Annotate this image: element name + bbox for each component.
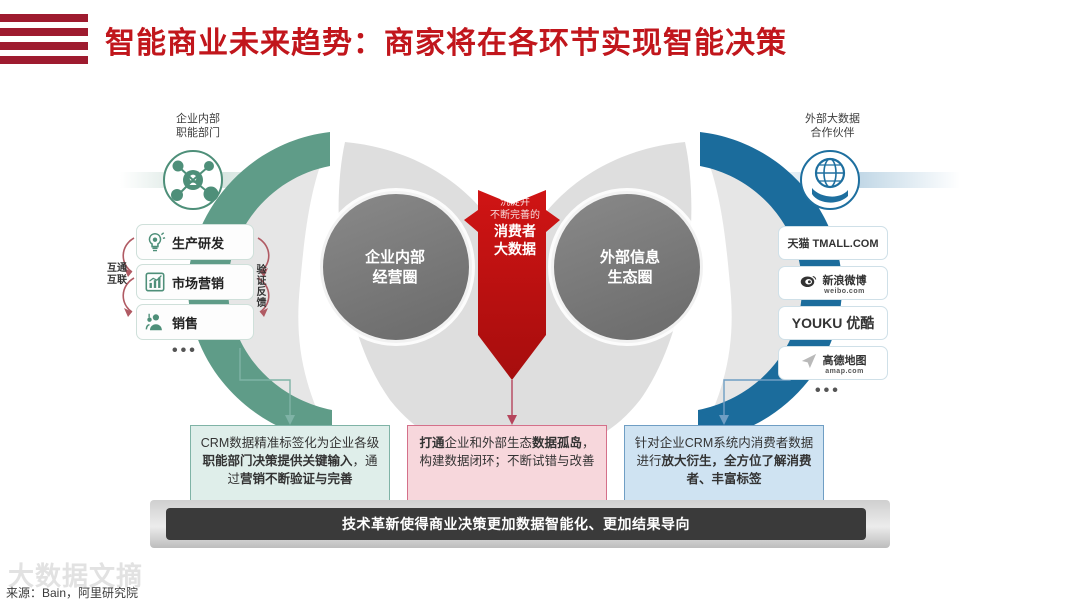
brand-box-amap[interactable]: 高德地图 amap.com — [778, 346, 888, 380]
brand-more-dots: ••• — [815, 382, 841, 400]
people-network-icon — [164, 151, 222, 209]
brand-box-tmall[interactable]: 天猫 TMALL.COM — [778, 226, 888, 260]
verify-feedback-label: 验证反馈 — [252, 264, 266, 308]
outcome-text-b: 职能部门决策提供关键输入 — [202, 454, 352, 468]
outcome-text-b: 放大衍生，全方位了解消费者、丰富标签 — [662, 454, 812, 486]
brand-sublabel: amap.com — [823, 368, 867, 375]
outer-circle-line2: 生态圈 — [560, 268, 700, 288]
globe-in-hand-icon — [801, 151, 859, 209]
header-bar — [0, 56, 88, 64]
interop-label: 互通 互联 — [101, 263, 133, 287]
shield-line2: 不断完善的 — [477, 209, 553, 222]
summary-banner: 技术革新使得商业决策更加数据智能化、更加结果导向 — [166, 508, 866, 540]
inner-circle-line2: 经营圈 — [325, 268, 465, 288]
source-note: 来源：Bain，阿里研究院 — [6, 584, 138, 601]
right-caption-line2: 合作伙伴 — [780, 126, 885, 140]
function-box-rd[interactable]: 生产研发 — [136, 224, 254, 260]
outcome-text-a: 打通 — [419, 436, 444, 450]
outcome-box-data-island: 打通企业和外部生态数据孤岛，构建数据闭环；不断试错与改善 — [407, 425, 607, 501]
salesperson-icon — [144, 311, 166, 333]
brand-label: 新浪微博 weibo.com — [823, 272, 867, 295]
shield-line4: 大数据 — [477, 241, 553, 258]
outcome-text-b: 企业和外部生态 — [444, 436, 532, 450]
outcome-box-consumer-insight: 针对企业CRM系统内消费者数据进行放大衍生，全方位了解消费者、丰富标签 — [624, 425, 824, 501]
outer-circle-line1: 外部信息 — [560, 248, 700, 268]
inner-circle-label: 企业内部 经营圈 — [325, 248, 465, 288]
inner-circle-line1: 企业内部 — [325, 248, 465, 268]
interop-line2: 互联 — [101, 275, 133, 287]
brand-sublabel: weibo.com — [823, 288, 867, 295]
outcome-text-c: 数据孤岛 — [532, 436, 582, 450]
shield-line3: 消费者 — [477, 223, 553, 240]
brand-label: 天猫 TMALL.COM — [787, 235, 878, 251]
page-header: 智能商业未来趋势：商家将在各环节实现智能决策 — [0, 0, 1080, 80]
left-caption-line1: 企业内部 — [148, 112, 248, 126]
shield-label: 沉淀并 不断完善的 消费者 大数据 — [477, 196, 553, 258]
function-label: 生产研发 — [172, 233, 224, 252]
function-box-marketing[interactable]: 市场营销 — [136, 264, 254, 300]
outcome-text-d: 营销不断验证与完善 — [240, 472, 353, 486]
bar-chart-icon — [144, 271, 166, 293]
right-group-caption: 外部大数据 合作伙伴 — [780, 112, 885, 140]
function-label: 销售 — [172, 313, 198, 332]
outcome-box-crm: CRM数据精准标签化为企业各级职能部门决策提供关键输入，通过营销不断验证与完善 — [190, 425, 390, 501]
header-bar — [0, 42, 88, 50]
lightbulb-icon — [144, 231, 166, 253]
brand-box-youku[interactable]: YOUKU 优酷 — [778, 306, 888, 340]
brand-label: 高德地图 amap.com — [823, 352, 867, 375]
interop-line1: 互通 — [101, 263, 133, 275]
left-caption-line2: 职能部门 — [148, 126, 248, 140]
page-title: 智能商业未来趋势：商家将在各环节实现智能决策 — [105, 18, 787, 62]
header-bar — [0, 14, 88, 22]
left-group-caption: 企业内部 职能部门 — [148, 112, 248, 140]
outer-circle-label: 外部信息 生态圈 — [560, 248, 700, 288]
shield-line1: 沉淀并 — [477, 196, 553, 209]
function-label: 市场营销 — [172, 273, 224, 292]
weibo-eye-icon — [800, 274, 818, 293]
header-bars-decoration — [0, 14, 88, 64]
function-more-dots: ••• — [172, 342, 198, 360]
amap-arrow-icon — [800, 353, 818, 374]
outcome-text-a: CRM数据精准标签化为企业各级 — [201, 436, 379, 450]
header-bar — [0, 28, 88, 36]
diagram-stage: 企业内部 职能部门 外部大数据 合作伙伴 生产研发 市场营销 — [0, 80, 1080, 550]
brand-box-weibo[interactable]: 新浪微博 weibo.com — [778, 266, 888, 300]
brand-label: YOUKU 优酷 — [792, 313, 874, 333]
function-box-sales[interactable]: 销售 — [136, 304, 254, 340]
right-caption-line1: 外部大数据 — [780, 112, 885, 126]
